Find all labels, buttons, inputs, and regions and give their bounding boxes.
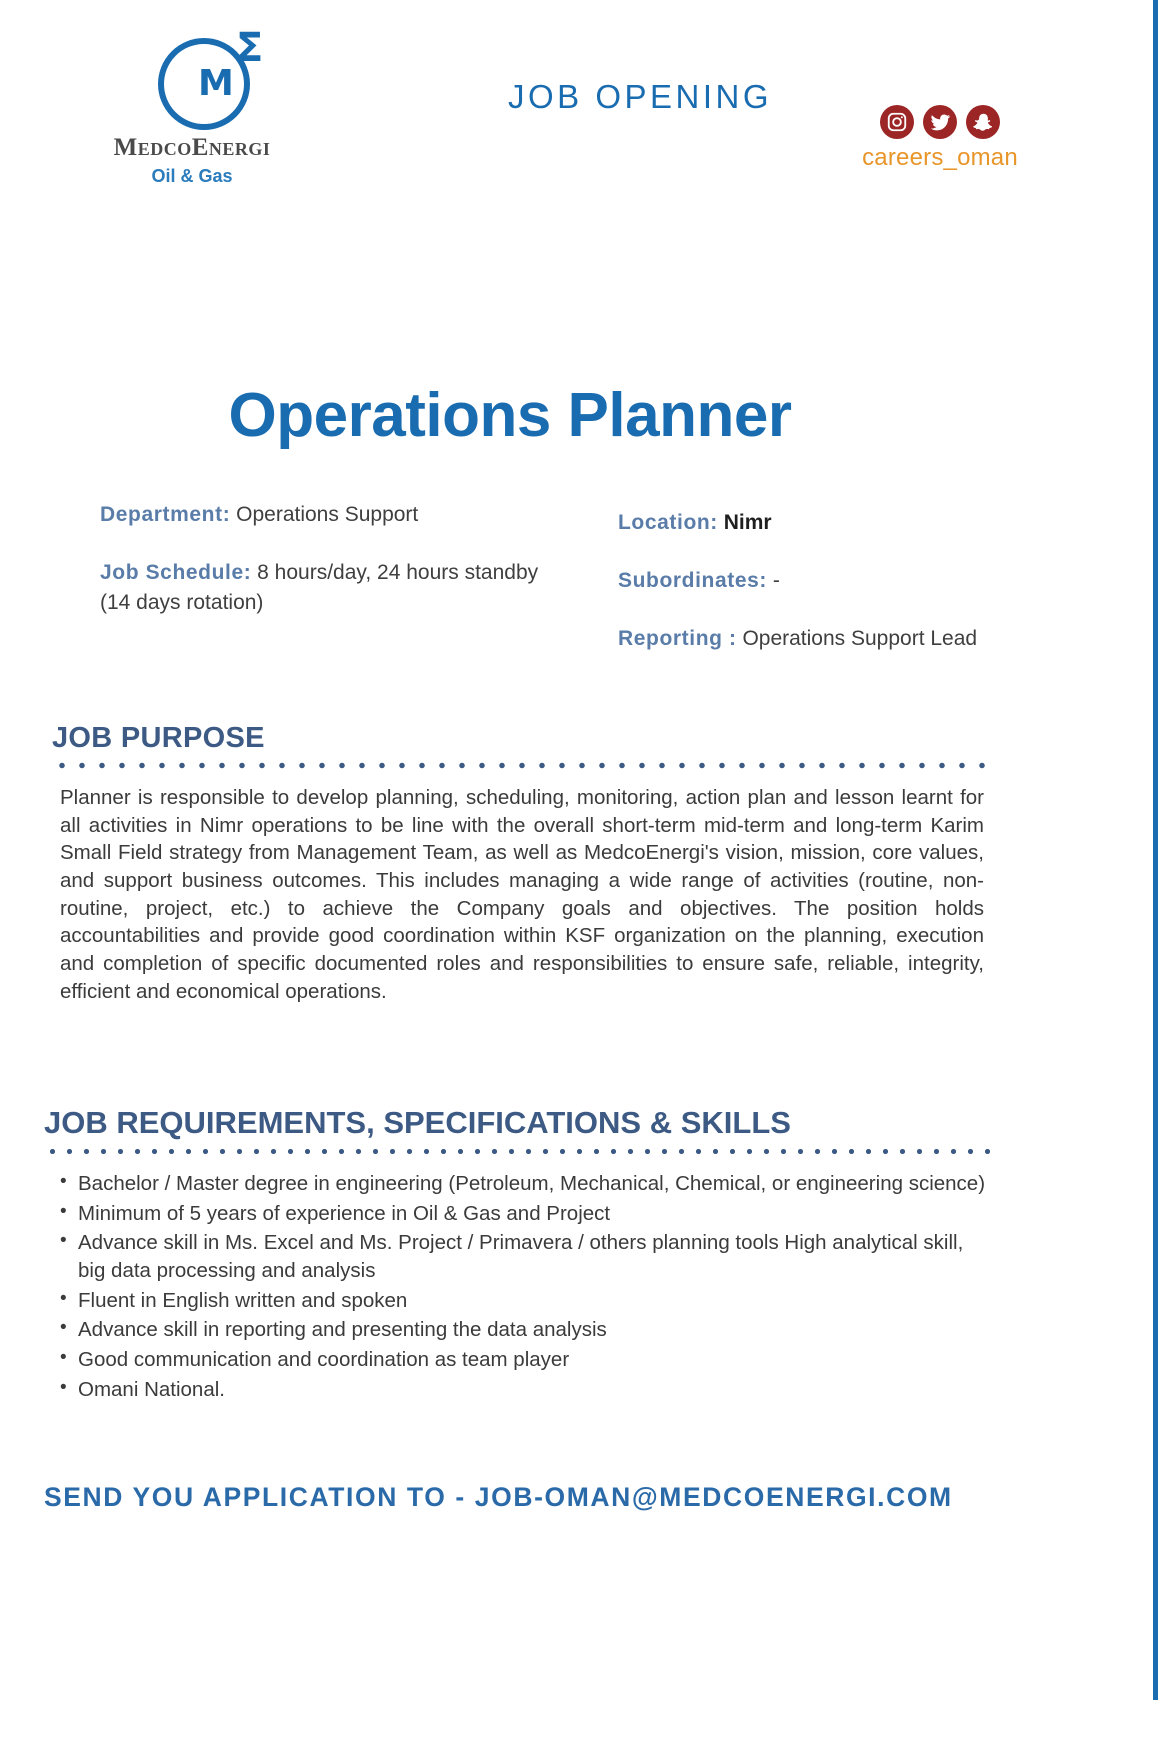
list-item: Minimum of 5 years of experience in Oil … bbox=[44, 1200, 992, 1228]
application-footer: SEND YOU APPLICATION TO - JOB-OMAN@MEDCO… bbox=[44, 1482, 1034, 1513]
job-opening-banner: JOB OPENING bbox=[430, 78, 850, 116]
page-title: Operations Planner bbox=[0, 380, 1020, 451]
meta-row-subordinates: Subordinates: - bbox=[618, 566, 1018, 596]
list-item: Omani National. bbox=[44, 1376, 992, 1404]
job-purpose-paragraph: Planner is responsible to develop planni… bbox=[52, 784, 990, 1005]
section-heading-job-purpose: JOB PURPOSE bbox=[52, 722, 990, 755]
list-item: Bachelor / Master degree in engineering … bbox=[44, 1170, 992, 1198]
company-logo: M Σ MedcoEnergi Oil & Gas bbox=[92, 22, 292, 187]
requirements-list: Bachelor / Master degree in engineering … bbox=[44, 1170, 992, 1403]
social-block: careers_oman bbox=[840, 105, 1040, 172]
company-name: MedcoEnergi bbox=[92, 134, 292, 162]
dotted-divider bbox=[44, 1147, 992, 1156]
meta-row-reporting: Reporting : Operations Support Lead bbox=[618, 624, 1018, 654]
meta-label-subordinates: Subordinates: bbox=[618, 569, 767, 592]
snapchat-icon[interactable] bbox=[966, 105, 1000, 139]
list-item: Advance skill in reporting and presentin… bbox=[44, 1316, 992, 1344]
list-item: Advance skill in Ms. Excel and Ms. Proje… bbox=[44, 1229, 992, 1284]
twitter-icon[interactable] bbox=[923, 105, 957, 139]
meta-label-reporting: Reporting : bbox=[618, 627, 737, 650]
list-item: Fluent in English written and spoken bbox=[44, 1287, 992, 1315]
social-icons-row bbox=[840, 105, 1040, 139]
job-meta-left-column: Department: Operations Support Job Sched… bbox=[100, 500, 570, 645]
company-tagline: Oil & Gas bbox=[92, 166, 292, 187]
meta-label-job-schedule: Job Schedule: bbox=[100, 561, 251, 584]
job-meta-right-column: Location: Nimr Subordinates: - Reporting… bbox=[618, 508, 1018, 681]
logo-mark: M Σ bbox=[152, 22, 272, 134]
meta-row-job-schedule: Job Schedule: 8 hours/day, 24 hours stan… bbox=[100, 558, 570, 618]
section-heading-job-requirements: JOB REQUIREMENTS, SPECIFICATIONS & SKILL… bbox=[44, 1105, 992, 1141]
section-job-purpose: JOB PURPOSE Planner is responsible to de… bbox=[52, 722, 990, 1005]
meta-label-location: Location: bbox=[618, 511, 718, 534]
meta-value-reporting: Operations Support Lead bbox=[742, 627, 977, 650]
right-edge-rule bbox=[1153, 0, 1158, 1700]
meta-row-location: Location: Nimr bbox=[618, 508, 1018, 538]
meta-label-department: Department: bbox=[100, 503, 230, 526]
job-opening-poster: M Σ MedcoEnergi Oil & Gas JOB OPENING bbox=[0, 0, 1170, 1740]
section-job-requirements: JOB REQUIREMENTS, SPECIFICATIONS & SKILL… bbox=[44, 1105, 992, 1405]
dotted-divider bbox=[52, 761, 990, 770]
meta-value-department: Operations Support bbox=[236, 503, 418, 526]
meta-value-location: Nimr bbox=[724, 511, 772, 534]
meta-row-department: Department: Operations Support bbox=[100, 500, 570, 530]
poster-header: M Σ MedcoEnergi Oil & Gas JOB OPENING bbox=[0, 0, 1130, 210]
logo-sigma-icon: Σ bbox=[236, 28, 263, 68]
logo-letter-m: M bbox=[198, 66, 234, 102]
instagram-icon[interactable] bbox=[880, 105, 914, 139]
list-item: Good communication and coordination as t… bbox=[44, 1346, 992, 1374]
meta-value-subordinates: - bbox=[773, 569, 780, 592]
social-handle: careers_oman bbox=[840, 144, 1040, 172]
